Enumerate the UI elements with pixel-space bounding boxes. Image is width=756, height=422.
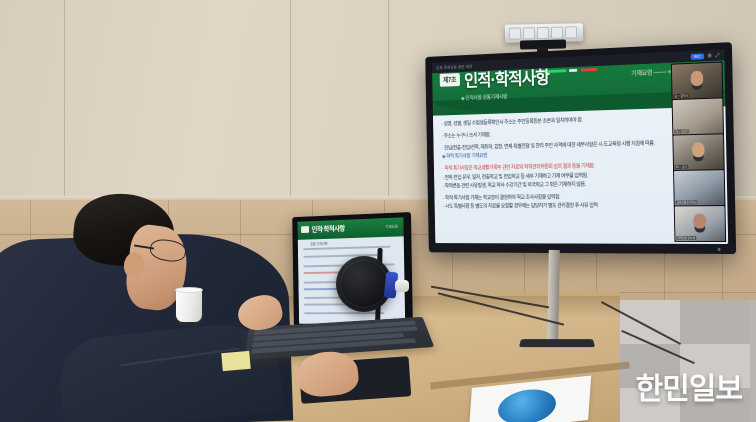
monitor-power-led xyxy=(718,247,721,250)
participant-name: 교육지원청 회의실 xyxy=(676,200,698,204)
secondary-header-note: 기재요령 xyxy=(385,225,398,230)
secondary-slide-title: 인적·학적사항 xyxy=(312,224,345,235)
participant-name: 김○○ 장학사 xyxy=(673,94,688,98)
microphone-knob xyxy=(395,280,409,292)
participant-tile[interactable]: 이○○ 담당자 xyxy=(673,98,723,134)
photo-scene: 인적·학적사항 관련 회의 REC ⊞ ⤢ 제7조 인적·학적사항 기재요령 ─… xyxy=(0,0,756,422)
avatar xyxy=(691,70,704,85)
participant-name: 이○○ 담당자 xyxy=(674,129,689,133)
header-marker-white xyxy=(569,68,577,71)
expand-icon[interactable]: ⤢ xyxy=(716,52,720,58)
avatar xyxy=(692,142,705,157)
watermark: 한민일보 xyxy=(636,364,742,408)
paper-cup xyxy=(176,288,202,322)
slide-canvas: 인적·학적사항 관련 회의 REC ⊞ ⤢ 제7조 인적·학적사항 기재요령 ─… xyxy=(432,49,728,244)
presentation-monitor: 인적·학적사항 관련 회의 REC ⊞ ⤢ 제7조 인적·학적사항 기재요령 ─… xyxy=(425,42,736,254)
rec-badge: REC xyxy=(691,53,704,60)
participant-tile[interactable]: 학적담당 연수생 xyxy=(675,206,725,241)
participant-tile[interactable]: 김○○ 장학사 xyxy=(672,63,722,100)
monitor-bezel: 인적·학적사항 관련 회의 REC ⊞ ⤢ 제7조 인적·학적사항 기재요령 ─… xyxy=(432,49,728,244)
avatar xyxy=(693,213,706,228)
monitor-stand-pole xyxy=(547,250,560,346)
monitor-chin xyxy=(429,243,736,254)
sticky-note xyxy=(221,351,250,371)
participant-tile[interactable]: 교육지원청 회의실 xyxy=(674,170,724,205)
participant-name: 박○○ 교사 xyxy=(675,165,688,169)
participant-name: 학적담당 연수생 xyxy=(676,236,696,240)
secondary-subtitle: 공통 기재사항 xyxy=(310,241,328,246)
microphone-pop-filter xyxy=(336,256,392,312)
participant-tile[interactable]: 박○○ 교사 xyxy=(673,134,723,170)
slide-title: 인적·학적사항 xyxy=(464,64,549,92)
grid-view-icon[interactable]: ⊞ xyxy=(708,53,712,59)
secondary-chapter-tag xyxy=(301,226,309,233)
paper-cup-rim xyxy=(175,287,203,293)
participant-strip: 김○○ 장학사 이○○ 담당자 박○○ 교사 교육지원청 회의실 학적담당 xyxy=(671,61,726,242)
slide-chapter-tag: 제7조 xyxy=(440,73,460,87)
monitor-stand-base xyxy=(519,339,595,347)
